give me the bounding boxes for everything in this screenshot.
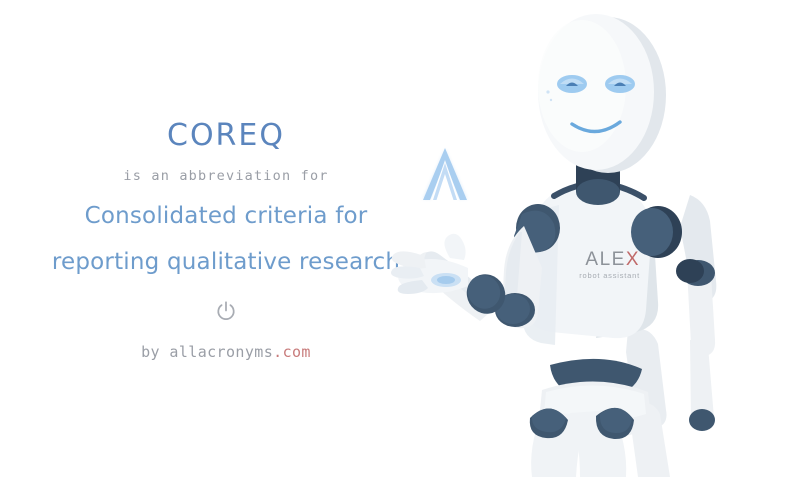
finger-2 <box>391 266 424 278</box>
robot-legs <box>530 408 634 477</box>
robot-torso: ALEX robot assistant <box>523 162 658 345</box>
attribution-site-name: by allacronyms <box>141 343 273 361</box>
far-wrist-joint <box>689 409 715 431</box>
robot-brand-tagline: robot assistant <box>579 271 640 280</box>
finger-1 <box>392 251 426 268</box>
acronym-card: COREQ is an abbreviation for Consolidate… <box>0 0 801 477</box>
robot-illustration: ALEX robot assistant <box>390 0 801 477</box>
acronym-expansion-line-1: Consolidated criteria for <box>0 200 452 232</box>
attribution[interactable]: by allacronyms.com <box>0 342 452 362</box>
robot-far-arm <box>676 195 716 431</box>
robot-open-hand <box>391 234 468 294</box>
abbreviation-connector-text: is an abbreviation for <box>0 166 452 186</box>
thumb <box>444 234 465 260</box>
attribution-tld: .com <box>273 343 311 361</box>
robot-head <box>538 14 666 173</box>
acronym-expansion-line-2: reporting qualitative research <box>0 246 452 278</box>
acronym-title: COREQ <box>0 118 452 154</box>
robot-brand-name: ALEX <box>585 249 640 270</box>
acronym-text-block: COREQ is an abbreviation for Consolidate… <box>0 118 452 362</box>
power-icon <box>215 300 237 322</box>
